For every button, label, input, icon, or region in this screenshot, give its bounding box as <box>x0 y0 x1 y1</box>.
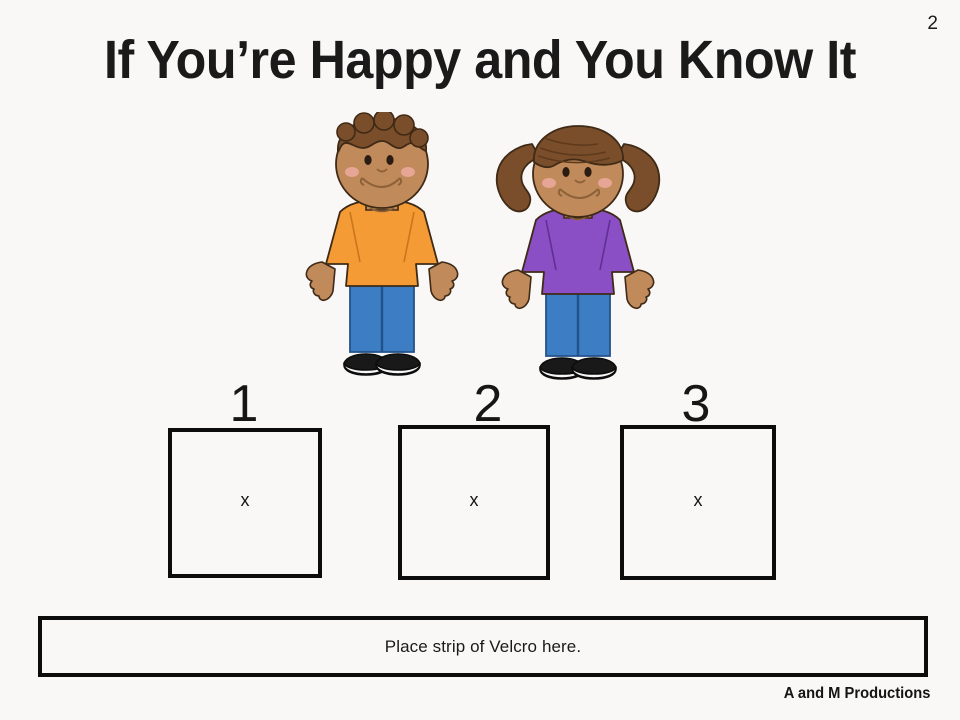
footer-credit: A and M Productions <box>783 685 930 703</box>
slot-number-1: 1 <box>204 378 284 430</box>
velcro-strip-instruction: Place strip of Velcro here. <box>385 637 581 657</box>
velcro-strip[interactable]: Place strip of Velcro here. <box>38 616 928 677</box>
velcro-box-3[interactable]: x <box>620 425 776 580</box>
velcro-box-1-mark: x <box>172 491 318 509</box>
velcro-box-2-mark: x <box>402 491 546 509</box>
velcro-box-1[interactable]: x <box>168 428 322 578</box>
velcro-box-2[interactable]: x <box>398 425 550 580</box>
velcro-box-3-mark: x <box>624 491 772 509</box>
slot-number-2: 2 <box>448 378 528 430</box>
boy-figure <box>306 112 457 375</box>
girl-figure <box>497 126 660 379</box>
two-children-clipart <box>292 112 672 382</box>
slide-canvas: 2 If You’re Happy and You Know It <box>0 0 960 720</box>
page-number: 2 <box>927 14 938 33</box>
slot-number-3: 3 <box>656 378 736 430</box>
page-title: If You’re Happy and You Know It <box>34 32 927 89</box>
